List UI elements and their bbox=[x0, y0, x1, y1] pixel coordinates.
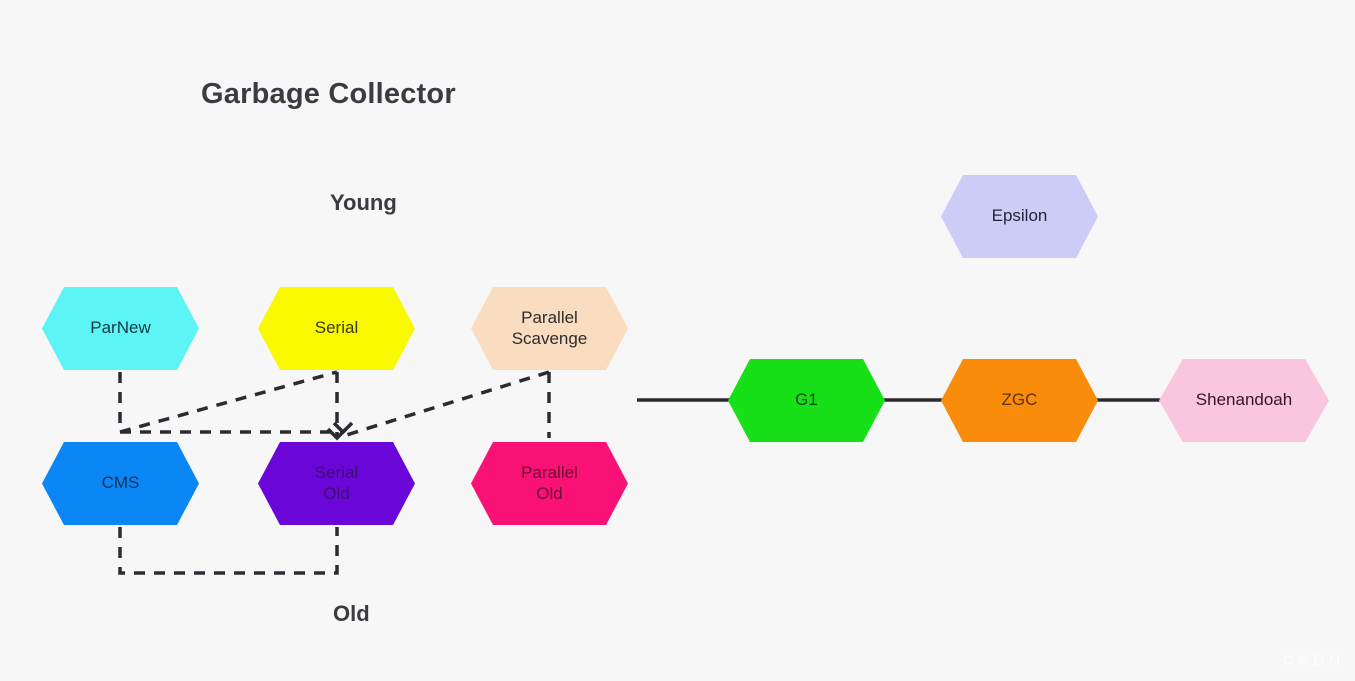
node-cms[interactable]: CMS bbox=[42, 442, 199, 525]
group-label-young: Young bbox=[330, 190, 397, 216]
connector-cms-serial-old-bottom bbox=[120, 527, 337, 573]
node-label-serial-old: Serial Old bbox=[315, 463, 358, 504]
node-epsilon[interactable]: Epsilon bbox=[941, 175, 1098, 258]
connector-cms-to-serial bbox=[120, 372, 337, 432]
node-label-shenandoah: Shenandoah bbox=[1196, 390, 1292, 411]
node-zgc[interactable]: ZGC bbox=[941, 359, 1098, 442]
node-shenandoah[interactable]: Shenandoah bbox=[1159, 359, 1329, 442]
node-label-parallel-scavenge: Parallel Scavenge bbox=[512, 308, 588, 349]
node-label-parallel-old: Parallel Old bbox=[521, 463, 578, 504]
page-title: Garbage Collector bbox=[201, 78, 456, 111]
node-label-g1: G1 bbox=[795, 390, 818, 411]
arrowhead-arrow-into-serial-old-from-serial bbox=[328, 429, 346, 438]
node-parnew[interactable]: ParNew bbox=[42, 287, 199, 370]
arrowhead-arrow-into-serial-old-from-parnew bbox=[334, 423, 352, 432]
connector-parallel-scavenge-to-serial-old bbox=[340, 372, 549, 437]
node-label-cms: CMS bbox=[102, 473, 140, 494]
group-label-old: Old bbox=[333, 601, 370, 627]
node-serial[interactable]: Serial bbox=[258, 287, 415, 370]
watermark: CSDN bbox=[1282, 652, 1345, 669]
node-label-parnew: ParNew bbox=[90, 318, 150, 339]
node-label-zgc: ZGC bbox=[1002, 390, 1038, 411]
node-parallel-old[interactable]: Parallel Old bbox=[471, 442, 628, 525]
diagram-canvas: Garbage Collector Young Old ParNewSerial… bbox=[0, 0, 1355, 681]
node-label-serial: Serial bbox=[315, 318, 358, 339]
connector-parnew-to-serial-old bbox=[120, 372, 343, 432]
node-serial-old[interactable]: Serial Old bbox=[258, 442, 415, 525]
node-label-epsilon: Epsilon bbox=[992, 206, 1048, 227]
node-g1[interactable]: G1 bbox=[728, 359, 885, 442]
node-parallel-scavenge[interactable]: Parallel Scavenge bbox=[471, 287, 628, 370]
